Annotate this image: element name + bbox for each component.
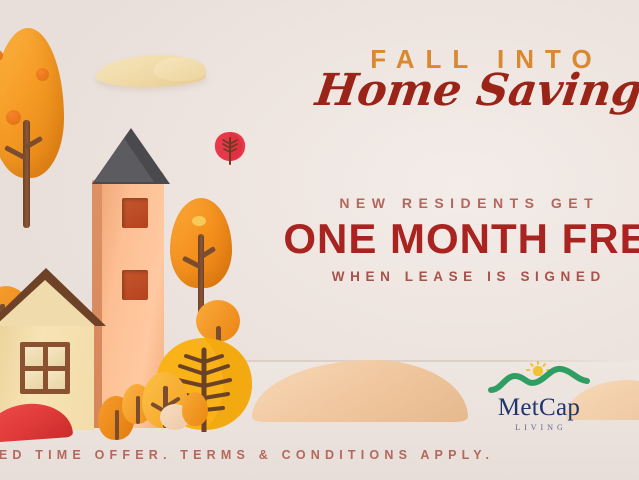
offer-headline: ONE MONTH FRE xyxy=(276,215,639,263)
tree-berry xyxy=(6,110,21,125)
round-bush xyxy=(182,392,208,426)
bush-stem xyxy=(115,410,119,440)
red-leaf xyxy=(212,128,248,166)
window-pane xyxy=(48,371,66,390)
bush-stem xyxy=(136,396,140,424)
offer-subtext: WHEN LEASE IS SIGNED xyxy=(276,270,639,285)
logo-tagline-text: LIVING xyxy=(481,423,597,432)
window-pane xyxy=(48,347,66,366)
logo-mark xyxy=(481,360,597,394)
house-window xyxy=(122,270,148,300)
tree-trunk xyxy=(23,120,30,228)
tree-highlight-dot xyxy=(192,216,206,226)
offer-kicker: NEW RESIDENTS GET xyxy=(276,196,639,211)
hill-sun-icon xyxy=(481,360,597,394)
tree-canopy xyxy=(0,28,64,178)
house-window-four-pane xyxy=(20,342,70,394)
offer-block: NEW RESIDENTS GET ONE MONTH FRE WHEN LEA… xyxy=(276,196,639,285)
headline-line-2-script: Home Savings! xyxy=(313,69,639,113)
metcap-logo[interactable]: MetCap LIVING xyxy=(481,360,597,438)
window-pane xyxy=(25,347,43,366)
orange-oval-tree xyxy=(170,198,232,288)
disclaimer-text: TED TIME OFFER. TERMS & CONDITIONS APPLY… xyxy=(0,448,494,462)
logo-brand-text: MetCap xyxy=(481,395,597,420)
tree-berry xyxy=(36,68,49,81)
red-leaf-svg xyxy=(212,128,248,166)
house-roof-highlight xyxy=(94,138,154,182)
bush-ball xyxy=(182,392,208,426)
headline: FALL INTO Home Savings! xyxy=(316,46,639,113)
window-pane xyxy=(25,371,43,390)
cloud-lobe xyxy=(154,57,206,81)
cloud-shape xyxy=(96,55,206,87)
house-gable xyxy=(0,280,95,326)
orange-tree xyxy=(0,28,64,228)
house-window xyxy=(122,198,148,228)
fall-promo-advertisement: FALL INTO Home Savings! NEW RESIDENTS GE… xyxy=(0,0,639,480)
